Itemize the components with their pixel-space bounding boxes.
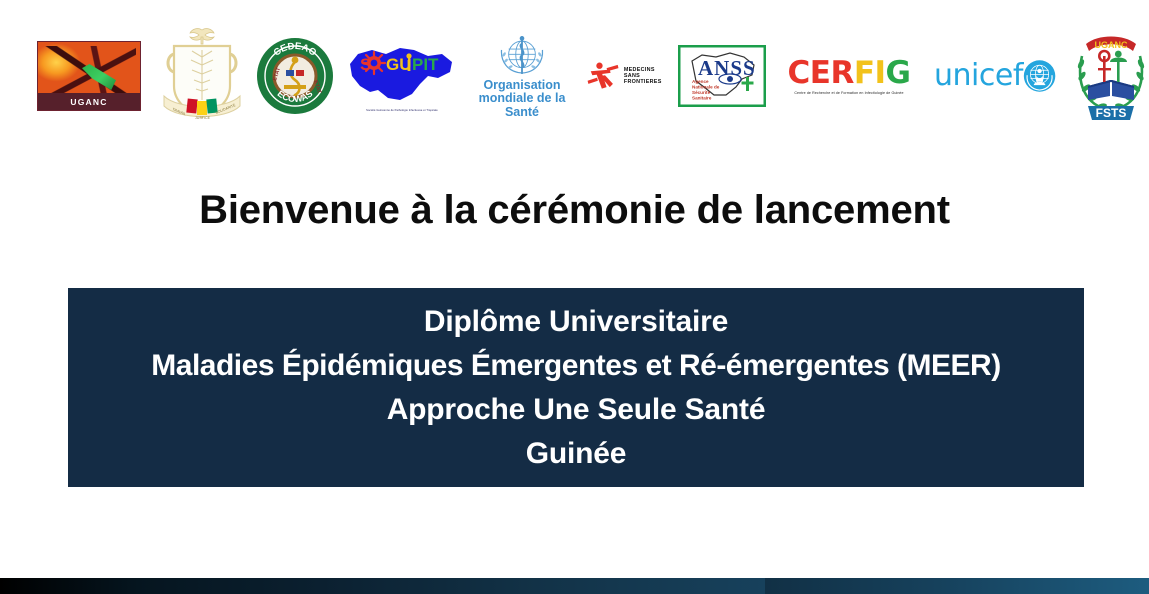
svg-text:S: S bbox=[360, 55, 371, 74]
anss-wordmark: ANSS bbox=[698, 56, 756, 80]
mortar-pestle-glyph bbox=[1110, 51, 1127, 82]
svg-text:PIT: PIT bbox=[412, 55, 439, 74]
program-line-4: Guinée bbox=[68, 432, 1084, 476]
msf-wordmark: MEDECINS SANS FRONTIERES bbox=[624, 67, 668, 85]
logo-msf: MEDECINS SANS FRONTIERES bbox=[586, 48, 668, 104]
soguipit-icon: S GU PIT bbox=[342, 36, 462, 116]
unicef-emblem-icon bbox=[1023, 56, 1056, 96]
anss-sub-2: Nationale de bbox=[692, 85, 720, 90]
who-emblem-icon bbox=[494, 33, 550, 78]
logo-cerfig: CERFIG Centre de Recherche et de Formati… bbox=[776, 49, 922, 103]
logo-unicef: unicef bbox=[934, 53, 1056, 99]
program-line-2: Maladies Épidémiques Émergentes et Ré-ém… bbox=[68, 344, 1084, 388]
motto-justice: JUSTICE bbox=[195, 116, 211, 120]
logo-ecowas: CEDEAO ECOWAS ETAT ETAT bbox=[256, 37, 334, 115]
program-line-1: Diplôme Universitaire bbox=[68, 300, 1084, 344]
anss-sub-3: Sécurité bbox=[692, 90, 711, 95]
welcome-title: Bienvenue à la cérémonie de lancement bbox=[0, 188, 1149, 233]
logo-uganc-fsts: UGANC FSTS bbox=[1070, 28, 1149, 124]
logo-guinea-coat-of-arms: TRAVAIL JUSTICE SOLIDARITÉ bbox=[154, 24, 250, 128]
logo-anss: ANSS Agence Nationale de Sécurité Sanita… bbox=[678, 43, 766, 109]
fsts-bottom-banner-text: FSTS bbox=[1096, 106, 1127, 120]
unicef-wordmark: unicef bbox=[934, 61, 1023, 91]
cerfig-wordmark: CERFIG bbox=[787, 57, 910, 89]
who-line-1: Organisation bbox=[468, 79, 576, 93]
program-line-3: Approche Une Seule Santé bbox=[68, 388, 1084, 432]
fsts-top-banner-text: UGANC bbox=[1095, 40, 1128, 50]
logo-uganc-fire: UGANC bbox=[36, 40, 142, 112]
who-line-2: mondiale de la Santé bbox=[468, 92, 576, 119]
msf-figure-icon bbox=[586, 56, 621, 96]
ecowas-icon: CEDEAO ECOWAS ETAT ETAT bbox=[256, 37, 334, 115]
cerfig-subtitle: Centre de Recherche et de Formation en I… bbox=[794, 91, 903, 96]
fsts-emblem-icon: UGANC FSTS bbox=[1070, 28, 1149, 124]
logo-who-oms: Organisation mondiale de la Santé bbox=[468, 33, 576, 119]
logo-soguipit: S GU PIT Société Guinéenne de Pathologie… bbox=[342, 36, 462, 116]
guinea-coat-of-arms-icon: TRAVAIL JUSTICE SOLIDARITÉ bbox=[154, 24, 250, 128]
program-title-panel: Diplôme Universitaire Maladies Épidémiqu… bbox=[68, 288, 1084, 487]
soguipit-subtitle: Société Guinéenne de Pathologie Infectie… bbox=[350, 109, 454, 112]
bottom-accent-bar-right bbox=[765, 578, 1149, 594]
partner-logo-bar: UGANC bbox=[0, 18, 1149, 134]
bottom-accent-bar-left bbox=[0, 578, 765, 594]
who-wordmark: Organisation mondiale de la Santé bbox=[468, 79, 576, 120]
anss-icon: ANSS Agence Nationale de Sécurité Sanita… bbox=[678, 45, 766, 107]
anss-sub-1: Agence bbox=[692, 79, 709, 84]
anss-sub-4: Sanitaire bbox=[692, 96, 712, 101]
bottom-accent-bar bbox=[0, 578, 1149, 594]
uganc-fire-image: UGANC bbox=[37, 41, 141, 111]
caduceus-glyph bbox=[1098, 51, 1111, 82]
slide-root: UGANC bbox=[0, 0, 1149, 594]
msf-line-2: SANS FRONTIERES bbox=[624, 73, 668, 85]
uganc-label: UGANC bbox=[38, 93, 140, 110]
